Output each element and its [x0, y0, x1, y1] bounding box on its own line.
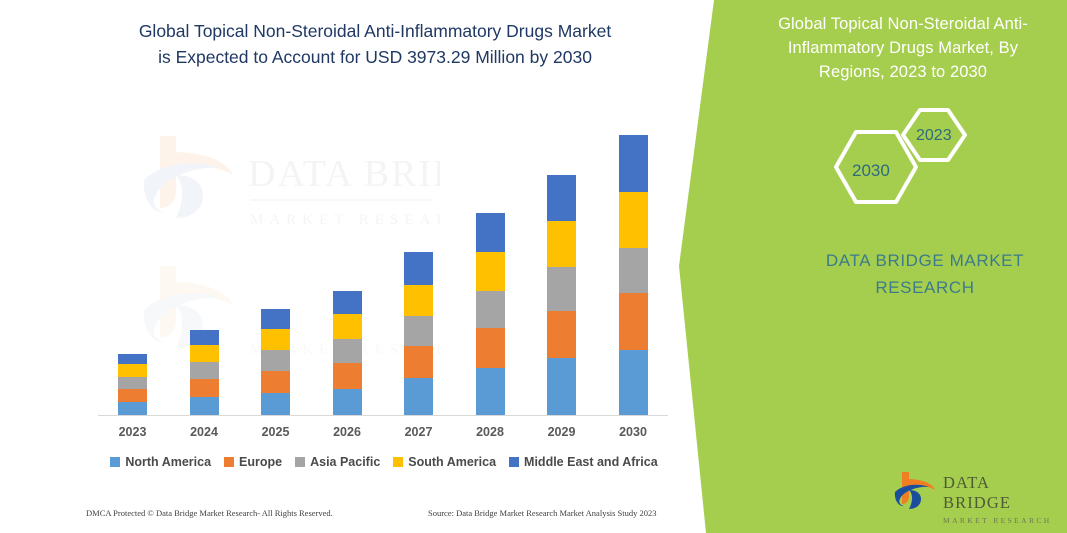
bar-segment-2027-asia-pacific	[404, 316, 433, 346]
x-tick-2024: 2024	[169, 425, 239, 439]
bar-segment-2028-south-america	[476, 252, 505, 291]
bar-segment-2026-north-america	[333, 389, 362, 415]
bar-segment-2028-asia-pacific	[476, 291, 505, 328]
brand-line-1: DATA BRIDGE MARKET	[775, 247, 1067, 274]
x-tick-2028: 2028	[455, 425, 525, 439]
bar-segment-2028-europe	[476, 328, 505, 368]
x-tick-2023: 2023	[98, 425, 168, 439]
bar-segment-2024-middle-east-and-africa	[190, 330, 219, 345]
bar-segment-2029-middle-east-and-africa	[547, 175, 576, 221]
bar-segment-2023-asia-pacific	[118, 377, 147, 389]
bar-segment-2023-middle-east-and-africa	[118, 354, 147, 364]
bar-2023	[118, 354, 147, 415]
logo-wordmark: DATA BRIDGE MARKET RESEARCH	[943, 473, 1058, 525]
legend-swatch-icon	[509, 457, 519, 467]
bar-segment-2030-south-america	[619, 192, 648, 248]
bar-segment-2028-north-america	[476, 368, 505, 415]
bar-segment-2025-asia-pacific	[261, 350, 290, 371]
bar-segment-2029-asia-pacific	[547, 267, 576, 311]
brand-name-text: DATA BRIDGE MARKET RESEARCH	[775, 247, 1067, 301]
bar-segment-2027-europe	[404, 346, 433, 378]
bar-segment-2027-south-america	[404, 285, 433, 316]
hexagon-group	[820, 106, 990, 206]
bar-2024	[190, 330, 219, 415]
bar-segment-2030-middle-east-and-africa	[619, 135, 648, 192]
bar-segment-2028-middle-east-and-africa	[476, 213, 505, 252]
brand-line-2: RESEARCH	[775, 274, 1067, 301]
infographic-canvas: Global Topical Non-Steroidal Anti-Inflam…	[0, 0, 1067, 533]
right-panel-title: Global Topical Non-Steroidal Anti-Inflam…	[757, 12, 1049, 84]
bar-segment-2026-asia-pacific	[333, 339, 362, 363]
bar-segment-2024-europe	[190, 379, 219, 397]
legend-swatch-icon	[224, 457, 234, 467]
bar-segment-2023-south-america	[118, 364, 147, 377]
x-tick-2029: 2029	[527, 425, 597, 439]
bar-2027	[404, 252, 433, 415]
bar-segment-2027-middle-east-and-africa	[404, 252, 433, 285]
bar-segment-2029-north-america	[547, 358, 576, 415]
bar-segment-2030-asia-pacific	[619, 248, 648, 293]
stacked-bar-chart: 20232024202520262027202820292030	[0, 0, 700, 470]
bar-segment-2026-middle-east-and-africa	[333, 291, 362, 314]
bar-segment-2025-north-america	[261, 393, 290, 415]
bar-segment-2029-europe	[547, 311, 576, 358]
x-tick-2030: 2030	[598, 425, 668, 439]
hexagon-2023-label: 2023	[916, 127, 952, 145]
chart-legend: North AmericaEuropeAsia PacificSouth Ame…	[98, 455, 670, 469]
footer-copyright: DMCA Protected © Data Bridge Market Rese…	[86, 508, 333, 518]
bar-segment-2030-north-america	[619, 350, 648, 415]
bar-segment-2029-south-america	[547, 221, 576, 267]
legend-swatch-icon	[110, 457, 120, 467]
legend-swatch-icon	[393, 457, 403, 467]
logo-main-text: DATA BRIDGE	[943, 473, 1058, 513]
legend-item-europe[interactable]: Europe	[224, 455, 282, 469]
bar-2026	[333, 291, 362, 415]
legend-swatch-icon	[295, 457, 305, 467]
bar-segment-2026-south-america	[333, 314, 362, 339]
bar-segment-2025-south-america	[261, 329, 290, 350]
bar-2025	[261, 309, 290, 415]
bar-segment-2027-north-america	[404, 378, 433, 415]
legend-item-north-america[interactable]: North America	[110, 455, 211, 469]
bar-segment-2023-north-america	[118, 402, 147, 415]
legend-label: Europe	[239, 455, 282, 469]
brand-logo: DATA BRIDGE MARKET RESEARCH	[893, 468, 1058, 516]
legend-label: Asia Pacific	[310, 455, 380, 469]
legend-label: Middle East and Africa	[524, 455, 658, 469]
x-tick-2026: 2026	[312, 425, 382, 439]
bar-segment-2025-middle-east-and-africa	[261, 309, 290, 329]
bar-segment-2026-europe	[333, 363, 362, 389]
footer-source: Source: Data Bridge Market Research Mark…	[428, 508, 657, 518]
bar-segment-2030-europe	[619, 293, 648, 350]
bar-segment-2024-north-america	[190, 397, 219, 415]
x-axis-line	[98, 415, 668, 416]
legend-item-middle-east-and-africa[interactable]: Middle East and Africa	[509, 455, 658, 469]
legend-label: South America	[408, 455, 496, 469]
bar-2028	[476, 213, 505, 415]
logo-sub-text: MARKET RESEARCH	[943, 516, 1058, 525]
x-tick-2027: 2027	[384, 425, 454, 439]
legend-label: North America	[125, 455, 211, 469]
legend-item-south-america[interactable]: South America	[393, 455, 496, 469]
hexagon-2030-label: 2030	[852, 161, 890, 181]
bar-segment-2024-south-america	[190, 345, 219, 362]
bar-segment-2023-europe	[118, 389, 147, 402]
bar-2030	[619, 135, 648, 415]
x-tick-2025: 2025	[241, 425, 311, 439]
bar-segment-2024-asia-pacific	[190, 362, 219, 379]
bar-segment-2025-europe	[261, 371, 290, 393]
logo-mark-icon	[893, 470, 937, 512]
bar-2029	[547, 175, 576, 415]
legend-item-asia-pacific[interactable]: Asia Pacific	[295, 455, 380, 469]
